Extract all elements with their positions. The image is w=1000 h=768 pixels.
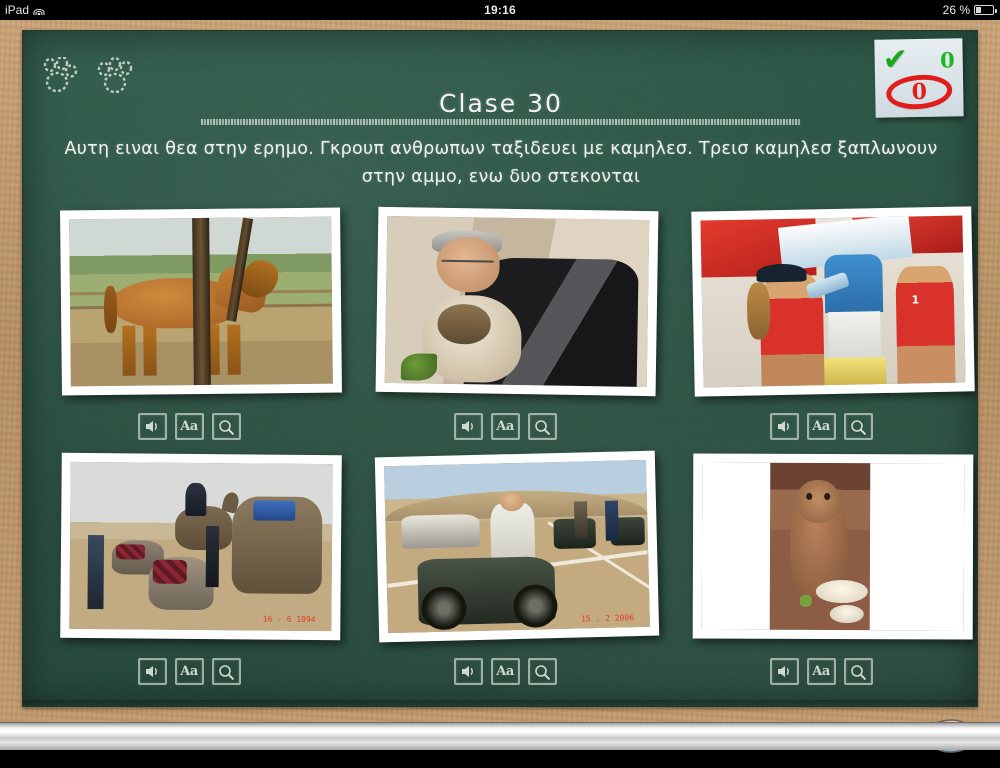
photo-cell-man-dog: Aa	[347, 201, 663, 446]
chalk-tray	[0, 722, 1000, 750]
status-right-group: 26 %	[943, 3, 994, 17]
sound-icon[interactable]	[138, 658, 167, 685]
battery-percent-label: 26 %	[943, 3, 970, 17]
prompt-text: Αυτη ειναι θεα στην ερημο. Γκρουπ ανθρωπ…	[61, 135, 941, 191]
board-bottom-shadow	[23, 700, 977, 706]
magnifier-icon[interactable]	[212, 413, 241, 440]
photo-controls-horse: Aa	[31, 413, 347, 440]
text-icon[interactable]: Aa	[491, 658, 520, 685]
sound-icon[interactable]	[454, 658, 483, 685]
photo-volleyball: 1	[700, 216, 965, 388]
sound-icon[interactable]	[770, 413, 799, 440]
text-icon[interactable]: Aa	[807, 658, 836, 685]
photo-quadbike: 15 . 2 2006	[384, 460, 650, 633]
correct-count: 0	[940, 47, 955, 72]
correct-score-row: ✔ 0	[882, 45, 954, 74]
photo-card-monkey[interactable]	[693, 454, 974, 640]
wooden-frame: ✔ 0 0 Clase 30 Αυτη ειναι θεα στην ερημο…	[0, 20, 1000, 750]
photo-horse	[69, 217, 333, 387]
photo-controls-man-dog: Aa	[347, 413, 663, 440]
photo-grid: Aa	[31, 201, 978, 701]
sound-icon[interactable]	[138, 413, 167, 440]
photo-cell-volleyball: 1 Aa	[663, 201, 978, 446]
photo-monkey	[702, 463, 965, 631]
magnifier-icon[interactable]	[844, 413, 873, 440]
clock-label: 19:16	[0, 3, 1000, 17]
photo-card-quadbike[interactable]: 15 . 2 2006	[375, 451, 659, 643]
text-icon[interactable]: Aa	[807, 413, 836, 440]
photo-cell-monkey: Aa	[663, 446, 978, 691]
sound-icon[interactable]	[770, 658, 799, 685]
photo-card-man-dog[interactable]	[376, 207, 659, 396]
sound-icon[interactable]	[454, 413, 483, 440]
ios-status-bar: iPad 19:16 26 %	[0, 0, 1000, 20]
photo-card-horse[interactable]	[60, 208, 342, 396]
photo-cell-quadbike: 15 . 2 2006 Aa	[347, 446, 663, 691]
title-divider	[201, 119, 801, 125]
magnifier-icon[interactable]	[528, 658, 557, 685]
photo-card-camels[interactable]: 16 - 6 1994	[60, 453, 342, 640]
photo-controls-camels: Aa	[31, 658, 347, 685]
text-icon[interactable]: Aa	[175, 658, 204, 685]
photo-camels: 16 - 6 1994	[69, 462, 332, 631]
text-icon[interactable]: Aa	[491, 413, 520, 440]
photo-controls-monkey: Aa	[663, 658, 978, 685]
photo-man-dog	[385, 216, 650, 387]
photo-controls-volleyball: Aa	[663, 413, 978, 440]
photo-card-volleyball[interactable]: 1	[691, 206, 974, 396]
green-check-icon: ✔	[882, 46, 908, 74]
battery-icon	[974, 5, 994, 15]
photo-cell-camels: 16 - 6 1994 Aa	[31, 446, 347, 691]
magnifier-icon[interactable]	[212, 658, 241, 685]
photo-controls-quadbike: Aa	[347, 658, 663, 685]
chalkboard: ✔ 0 0 Clase 30 Αυτη ειναι θεα στην ερημο…	[22, 30, 978, 707]
photo-cell-horse: Aa	[31, 201, 347, 446]
text-icon[interactable]: Aa	[175, 413, 204, 440]
magnifier-icon[interactable]	[528, 413, 557, 440]
magnifier-icon[interactable]	[844, 658, 873, 685]
page-title: Clase 30	[23, 89, 978, 118]
